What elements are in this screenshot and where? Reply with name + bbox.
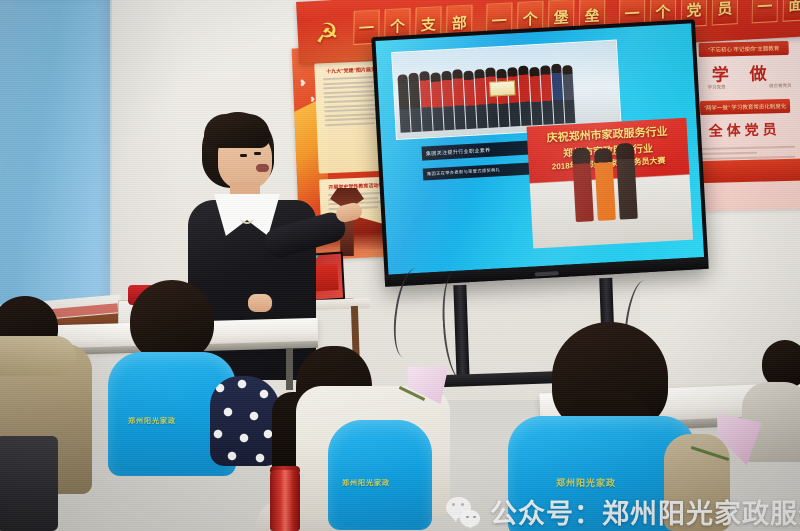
cpc-emblem-icon: ☭	[309, 17, 345, 49]
banner-char: 一	[752, 0, 778, 23]
window-blind	[0, 0, 112, 314]
slide-award-photo: 庆祝郑州市家政服务行业 郑州市家政服务行业 2018年度郑州市家政服务员大赛	[527, 118, 694, 249]
poster-right-big-2: 全体党员	[684, 119, 800, 142]
vest-text: 郑州阳光家政	[556, 476, 616, 489]
attendee-head	[762, 340, 800, 388]
fur-collar	[0, 336, 76, 376]
tv-screen[interactable]: 集团关注提升行业职业素养 集团正在举办表彰与荣誉式颁奖典礼 庆祝郑州市家政服务行…	[375, 23, 704, 274]
tv-brand-logo	[535, 271, 559, 276]
chair	[0, 436, 58, 531]
attendee-head	[130, 280, 214, 362]
attendee-vest-blue: 郑州阳光家政	[328, 420, 432, 530]
banner-char: 面	[783, 0, 800, 22]
vest-text: 郑州阳光家政	[342, 478, 390, 488]
group-photo-person	[562, 65, 575, 123]
wechat-icon	[446, 497, 480, 527]
award-recipients	[572, 143, 638, 222]
poster-right-chip-1: "不忘初心 牢记使命"主题教育	[698, 41, 788, 57]
desk-leg	[286, 348, 293, 390]
presenter-left-hand	[248, 294, 272, 312]
presenter-mouth	[256, 164, 269, 172]
presenter-eye	[254, 152, 261, 155]
classroom-training-photo: ❥ ❥ 十九大"党建"图片展览宣传栏 开展党史党性教育活动学习活动 深入开展 "…	[0, 0, 800, 531]
dove-icon: ❥	[299, 78, 307, 89]
presenter-eye	[240, 154, 247, 157]
slide-caption-2: 集团正在举办表彰与荣誉式颁奖典礼	[423, 162, 535, 180]
poster-right-chip-2: "两学一做" 学习教育常态化制度化	[700, 99, 790, 115]
thermos-flask[interactable]	[270, 470, 300, 531]
vest-text: 郑州阳光家政	[128, 416, 176, 426]
presenter-fringe	[204, 114, 270, 148]
presentation-tv[interactable]: 集团关注提升行业职业素养 集团正在举办表彰与荣誉式颁奖典礼 庆祝郑州市家政服务行…	[371, 19, 708, 287]
attendee-polka-jacket	[210, 376, 280, 466]
certificate-graphic	[488, 81, 515, 97]
banner-char: 员	[712, 0, 738, 26]
